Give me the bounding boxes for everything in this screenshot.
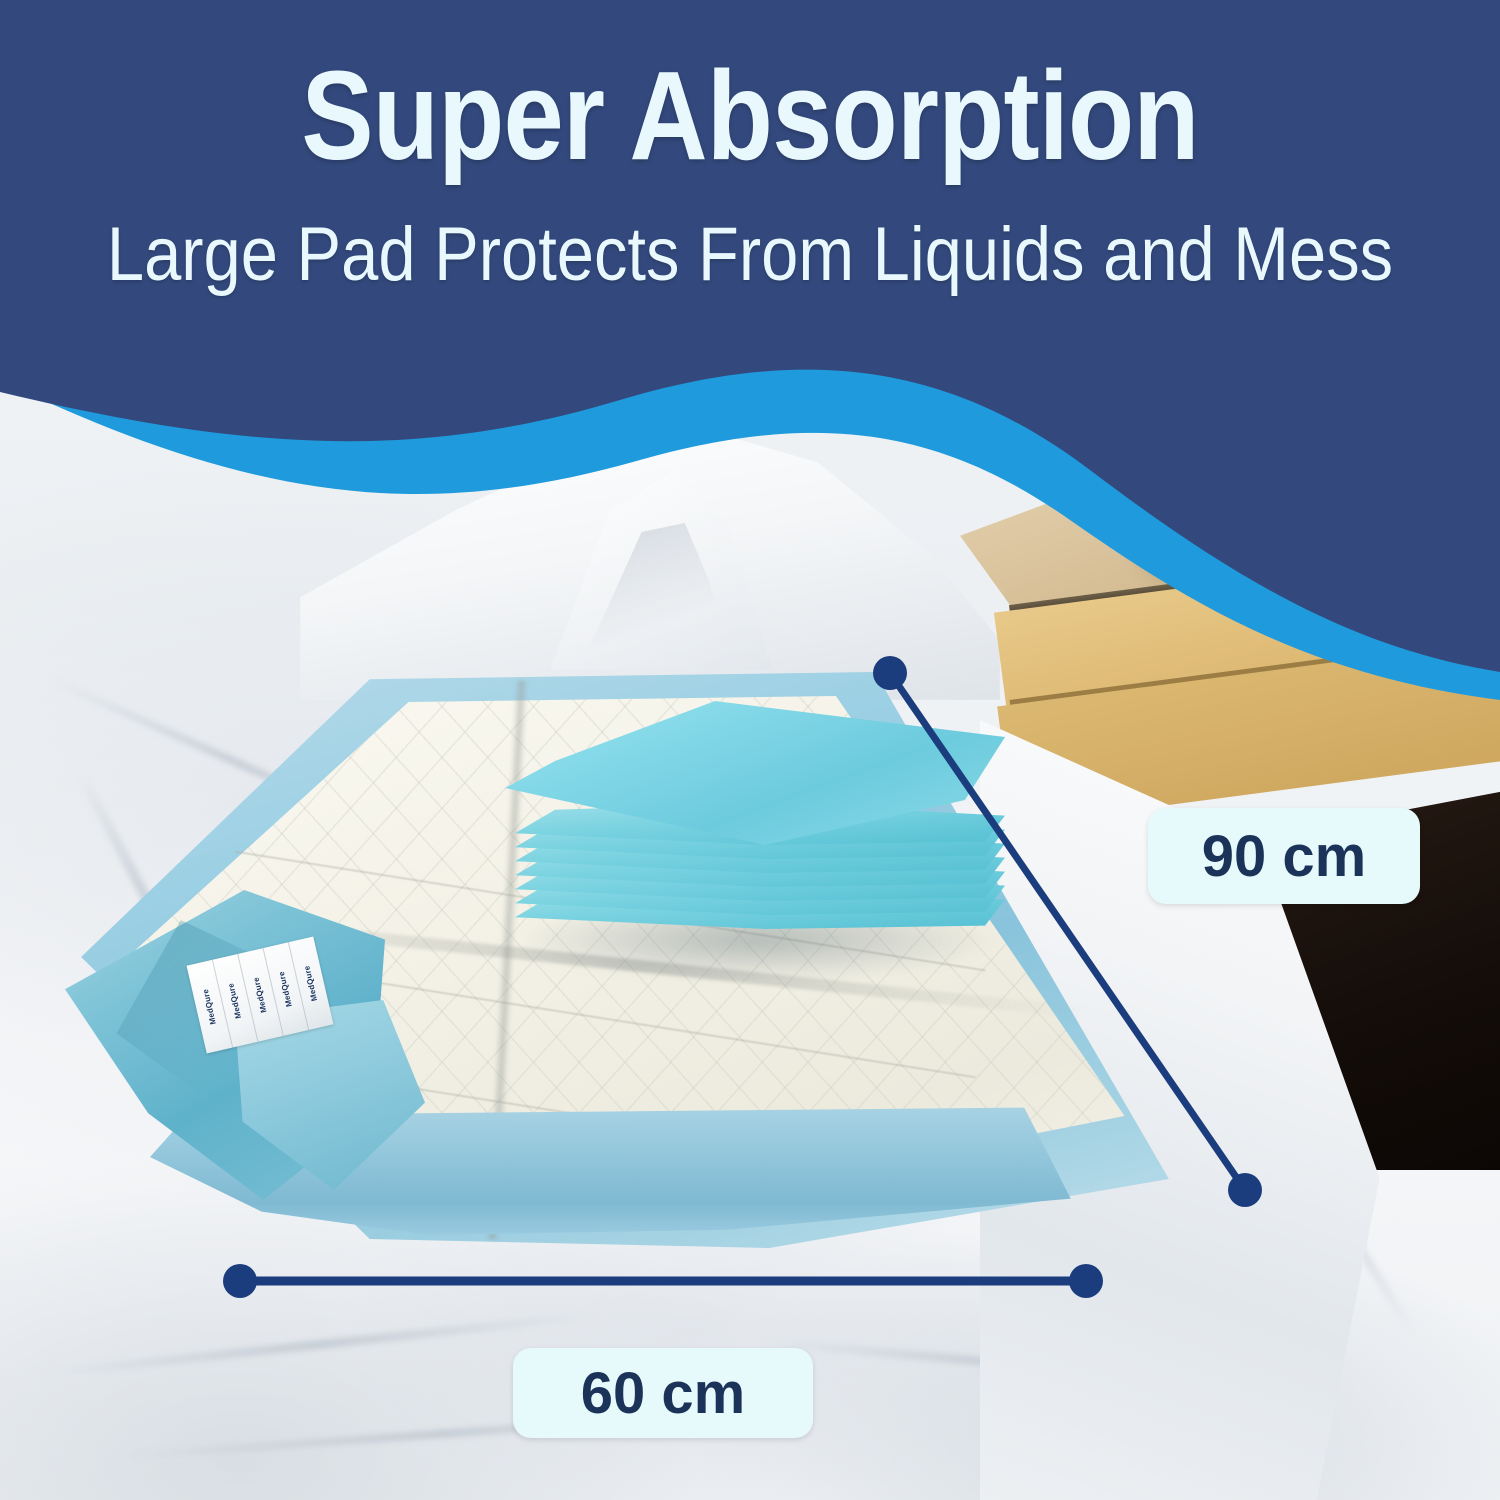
tape-brand-text: MedQure [302,965,319,1002]
tape-brand-text: MedQure [252,976,269,1013]
pad-stack [505,695,1005,965]
tape-brand-text: MedQure [226,982,243,1019]
tape-brand-text: MedQure [201,988,218,1025]
page-title: Super Absorption [105,52,1395,181]
tape-brand-text: MedQure [277,971,294,1008]
infographic-root: MedQure MedQure MedQure MedQure MedQure … [0,0,1500,1500]
page-subtitle: Large Pad Protects From Liquids and Mess [90,215,1410,295]
measurement-label-width: 60 cm [513,1348,813,1438]
measurement-label-height: 90 cm [1148,808,1420,904]
